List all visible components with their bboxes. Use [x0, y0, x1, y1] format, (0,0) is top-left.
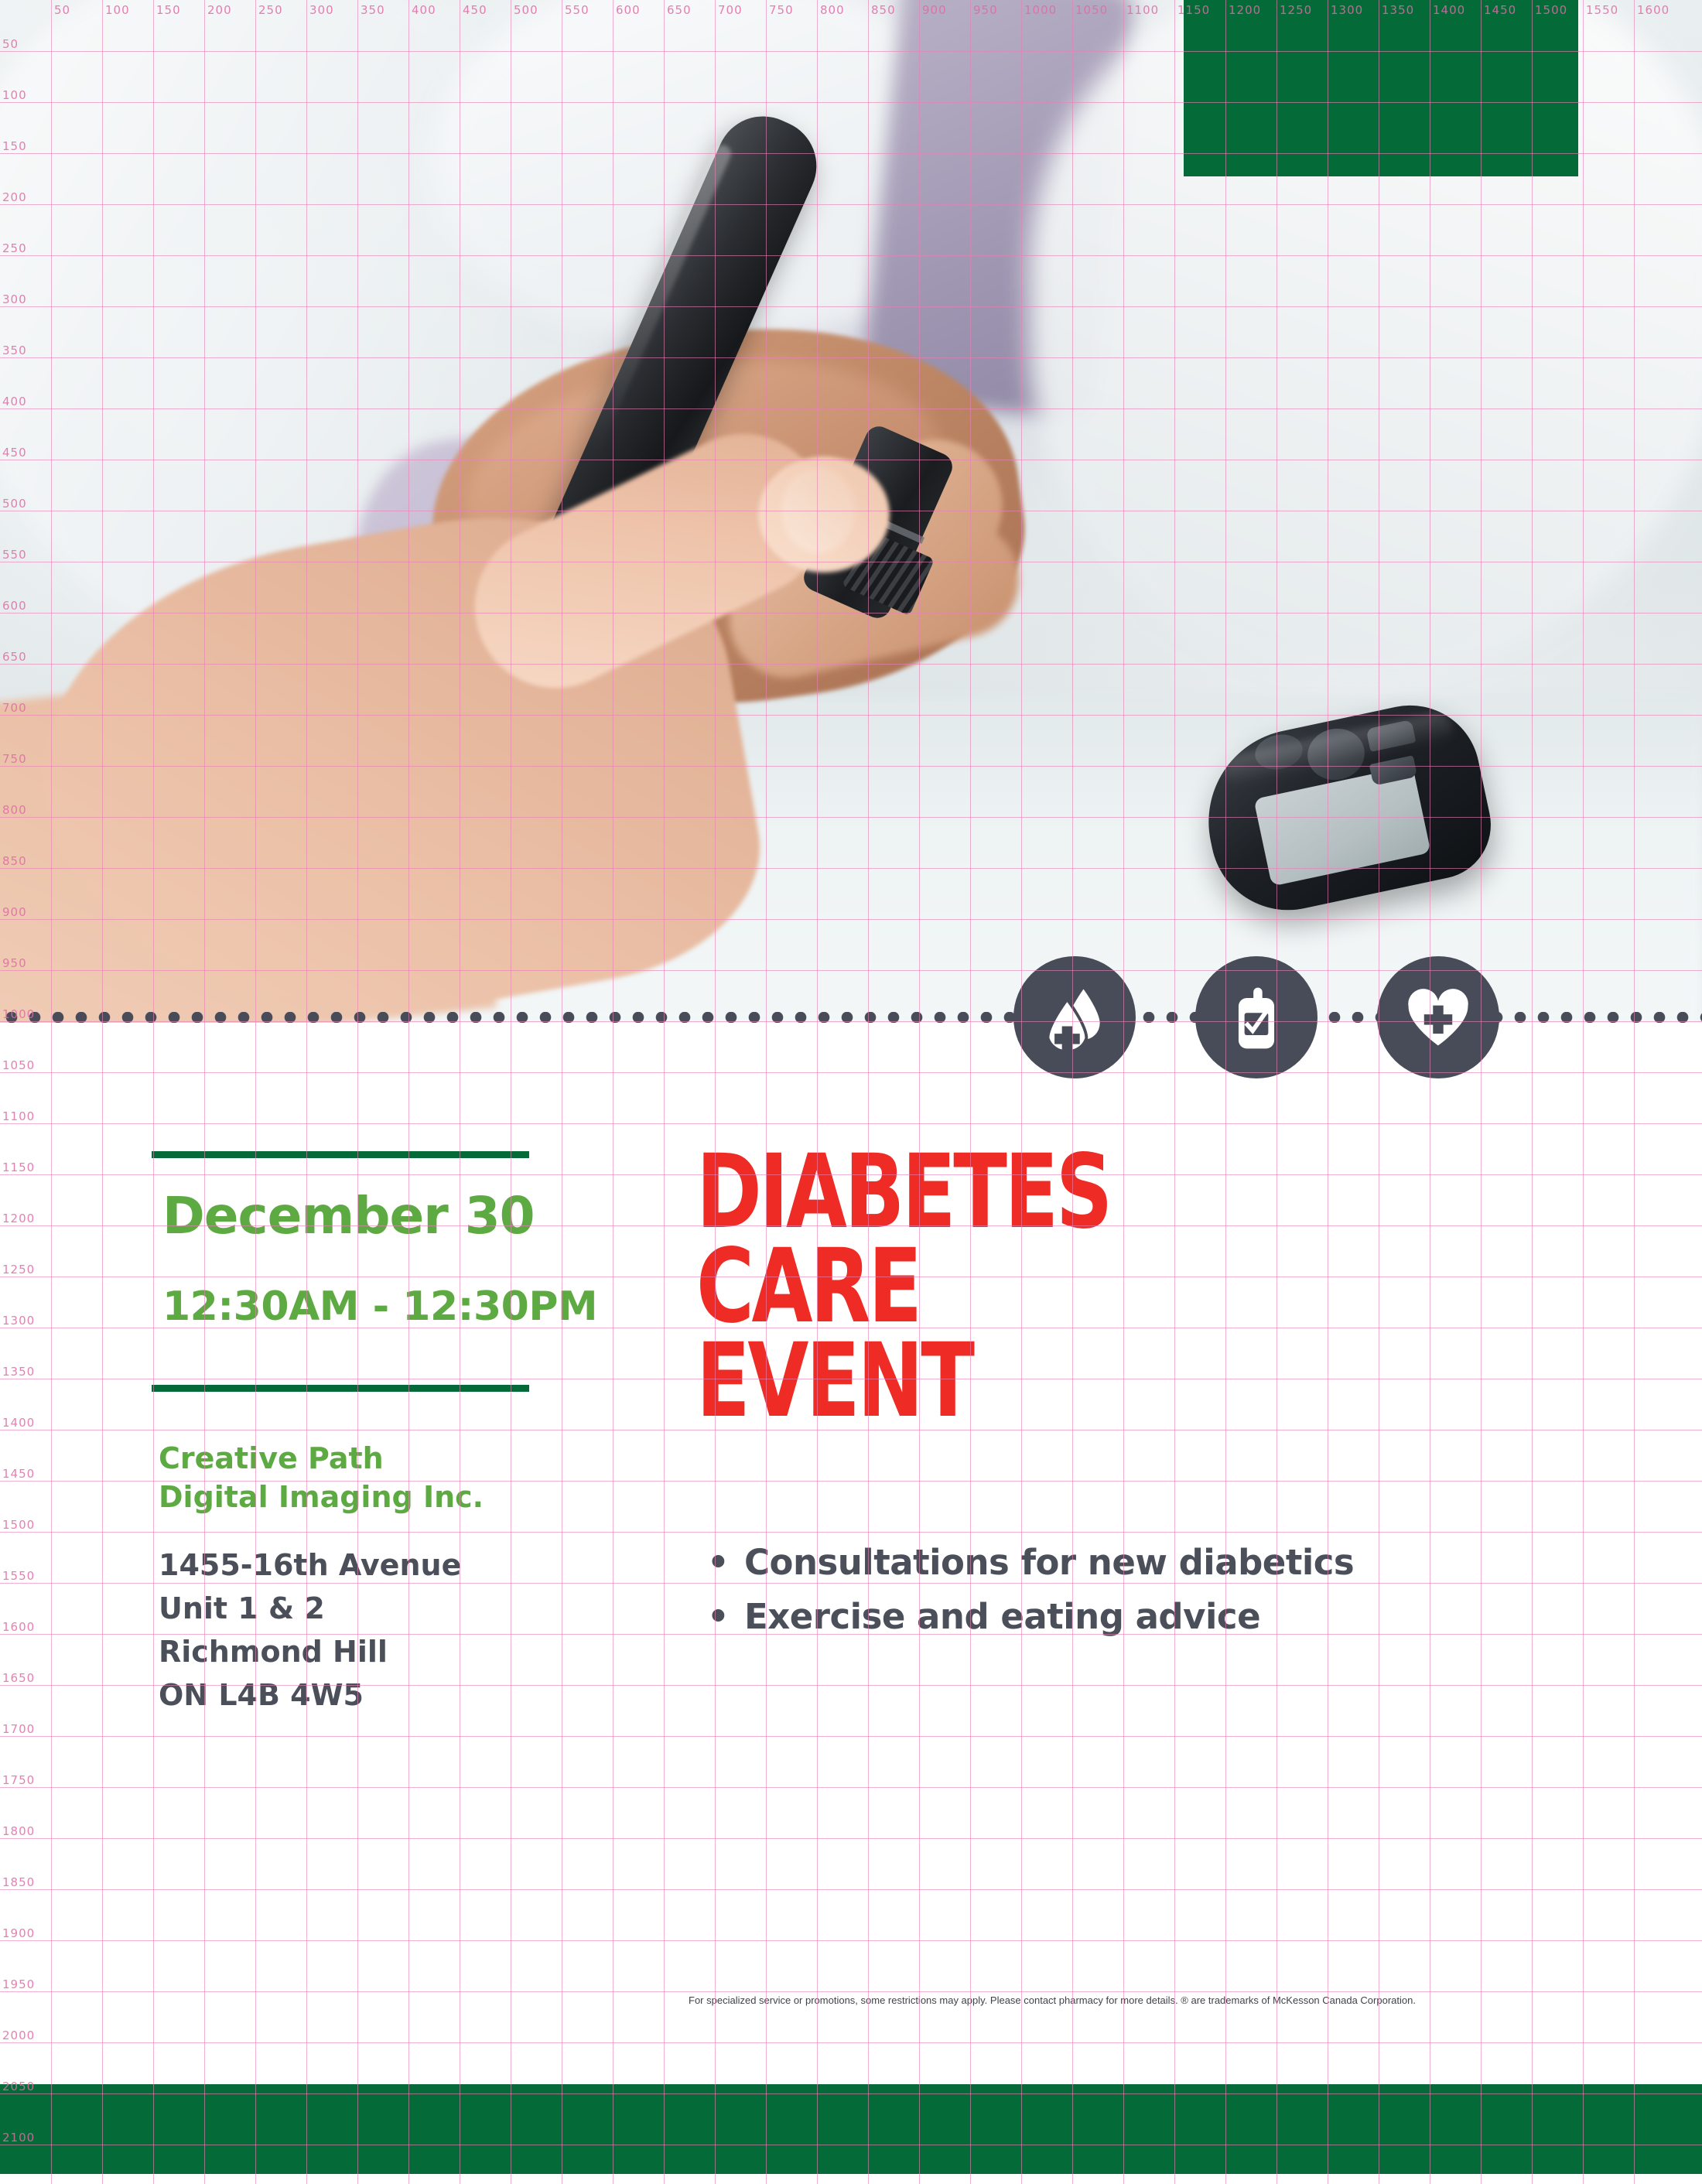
grid-label-y: 1050: [2, 1058, 35, 1072]
grid-line-horizontal: [0, 1991, 1702, 1992]
grid-label-y: 1550: [2, 1569, 35, 1583]
grid-label-y: 1700: [2, 1722, 35, 1736]
list-item: Exercise and eating advice: [696, 1590, 1625, 1644]
patient-fingernail: [781, 468, 855, 553]
organization-name: Creative Path Digital Imaging Inc.: [159, 1439, 499, 1516]
grid-label-y: 1500: [2, 1518, 35, 1532]
list-item: Consultations for new diabetics: [696, 1536, 1625, 1590]
grid-line-horizontal: [0, 1736, 1702, 1737]
glucose-meter-check-icon: [1195, 956, 1318, 1078]
grid-label-y: 1950: [2, 1977, 35, 1991]
grid-label-y: 2000: [2, 2028, 35, 2042]
grid-line-horizontal: [0, 1532, 1702, 1533]
event-address: 1455-16th Avenue Unit 1 & 2 Richmond Hil…: [159, 1543, 561, 1717]
grid-label-y: 1850: [2, 1875, 35, 1889]
grid-label-y: 1650: [2, 1671, 35, 1685]
event-rule-bottom: [152, 1385, 529, 1392]
heart-plus-icon: [1377, 956, 1499, 1078]
grid-line-horizontal: [0, 2042, 1702, 2043]
footer-bar: [0, 2084, 1702, 2174]
poster-canvas: Guardian ® December 30 12:30AM - 12:30PM: [0, 0, 1702, 2184]
grid-label-y: 1450: [2, 1467, 35, 1481]
grid-line-horizontal: [0, 1123, 1702, 1124]
grid-label-y: 1250: [2, 1263, 35, 1277]
page-title: DIABETES CARE EVENT: [696, 1145, 1441, 1428]
blood-drop-plus-icon: [1013, 956, 1136, 1078]
grid-label-y: 1600: [2, 1620, 35, 1634]
grid-label-y: 1100: [2, 1109, 35, 1123]
grid-label-y: 1350: [2, 1365, 35, 1379]
event-time: 12:30AM - 12:30PM: [162, 1284, 642, 1329]
grid-label-y: 1150: [2, 1160, 35, 1174]
grid-label-y: 1400: [2, 1416, 35, 1430]
grid-label-y: 1900: [2, 1926, 35, 1940]
grid-line-horizontal: [0, 1940, 1702, 1941]
event-date: December 30: [162, 1188, 596, 1245]
grid-label-y: 1200: [2, 1212, 35, 1225]
grid-label-y: 1300: [2, 1314, 35, 1328]
legal-disclaimer: For specialized service or promotions, s…: [689, 1994, 1601, 2007]
grid-line-horizontal: [0, 1889, 1702, 1890]
guardian-logo: Guardian ®: [1184, 0, 1578, 176]
grid-line-horizontal: [0, 1787, 1702, 1788]
grid-label-y: 1750: [2, 1773, 35, 1787]
event-rule-top: [152, 1151, 529, 1158]
service-list: Consultations for new diabetics Exercise…: [696, 1536, 1625, 1644]
grid-label-y: 1800: [2, 1824, 35, 1838]
grid-line-horizontal: [0, 1838, 1702, 1839]
